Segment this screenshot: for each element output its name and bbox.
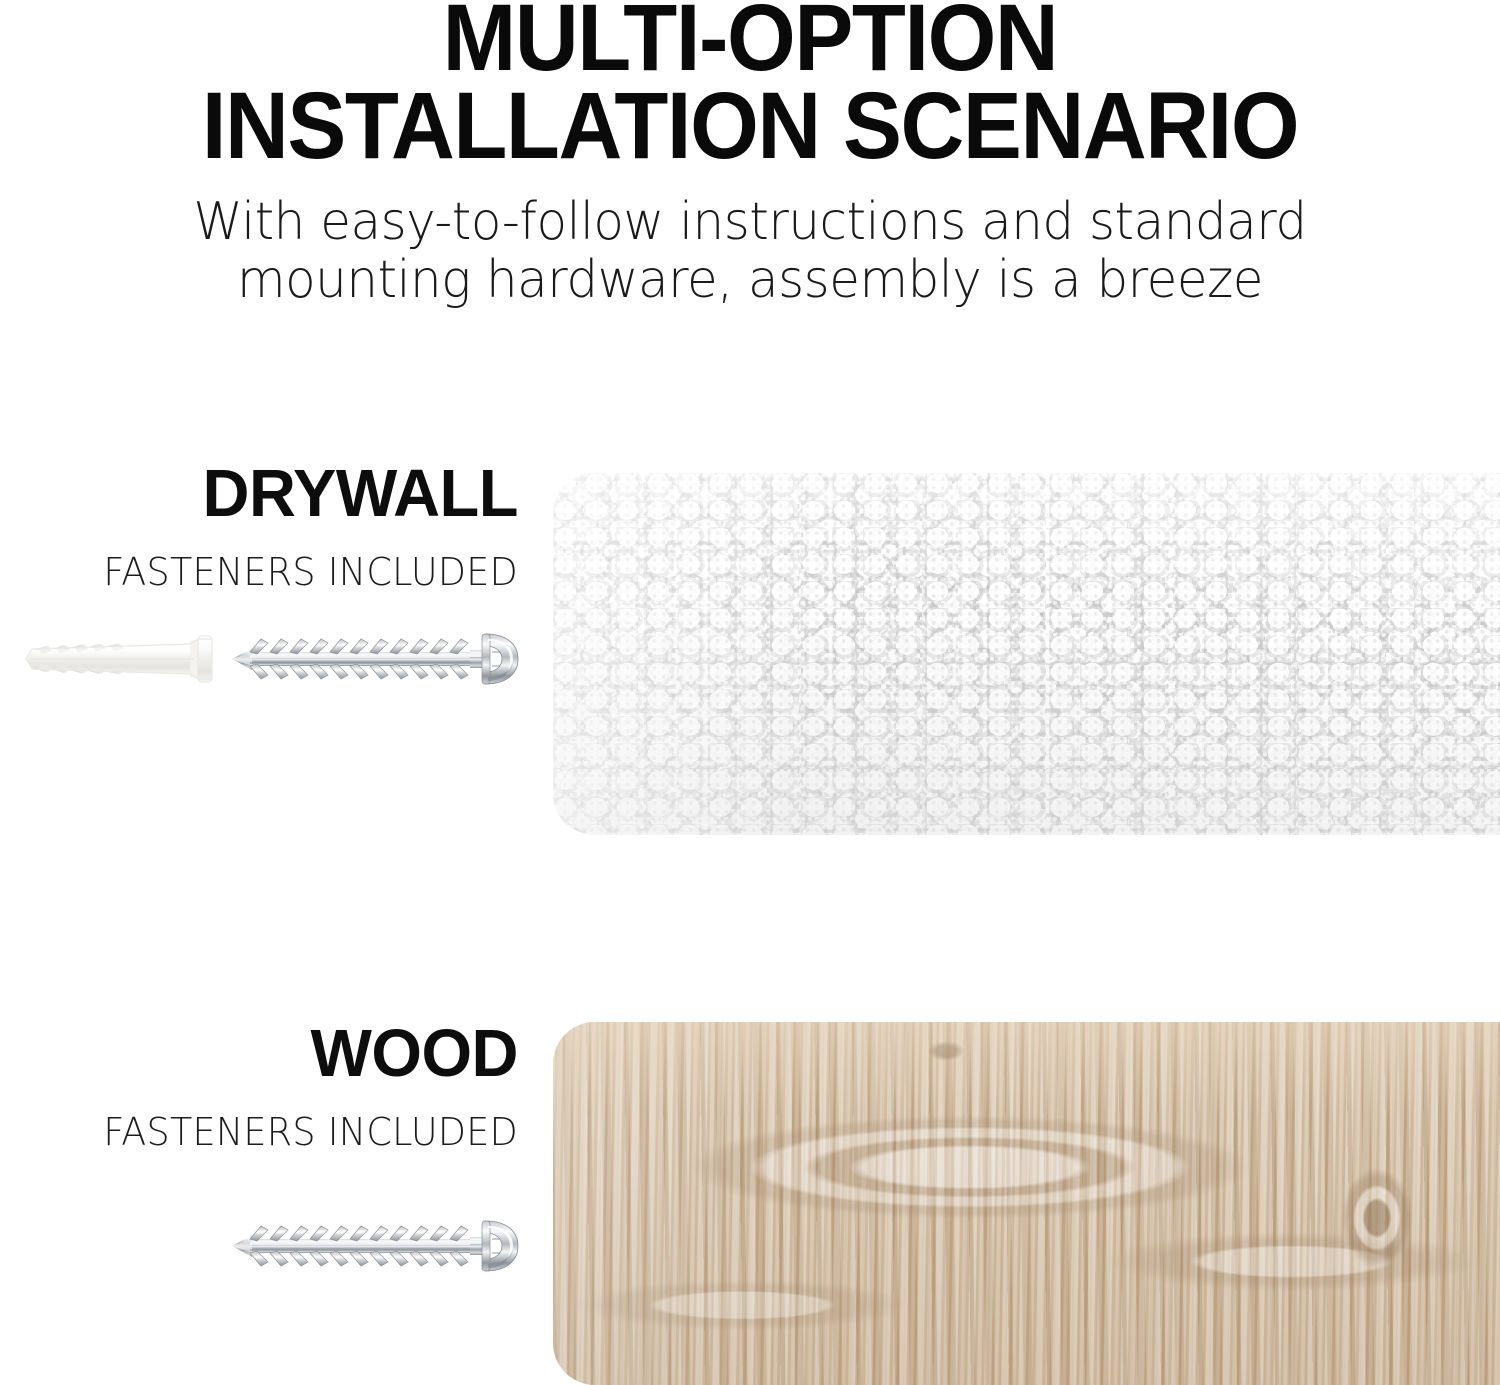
screw-icon (230, 628, 522, 690)
wood-fasteners-note: FASTENERS INCLUDED (21, 1113, 518, 1151)
section-drywall: DRYWALL FASTENERS INCLUDED (0, 460, 1500, 860)
wood-hardware-row (0, 1205, 522, 1285)
section-wood: WOOD FASTENERS INCLUDED (0, 1020, 1500, 1385)
subtitle-block: With easy-to-follow instructions and sta… (0, 193, 1500, 309)
subtitle-line-1: With easy-to-follow instructions and sta… (30, 193, 1470, 251)
subtitle-line-2: mounting hardware, assembly is a breeze (30, 251, 1470, 309)
drywall-label-column: DRYWALL FASTENERS INCLUDED (0, 460, 518, 591)
drywall-heading: DRYWALL (16, 460, 518, 527)
header-block: MULTI-OPTION INSTALLATION SCENARIO With … (0, 0, 1500, 309)
wood-heading: WOOD (16, 1020, 518, 1087)
drywall-hardware-row (0, 618, 522, 698)
wood-label-column: WOOD FASTENERS INCLUDED (0, 1020, 518, 1151)
page-title-line-2: INSTALLATION SCENARIO (53, 82, 1448, 170)
page-title-line-1: MULTI-OPTION (53, 0, 1448, 82)
screw-icon (230, 1215, 522, 1277)
drywall-fasteners-note: FASTENERS INCLUDED (21, 553, 518, 591)
wall-anchor-icon (22, 632, 218, 686)
